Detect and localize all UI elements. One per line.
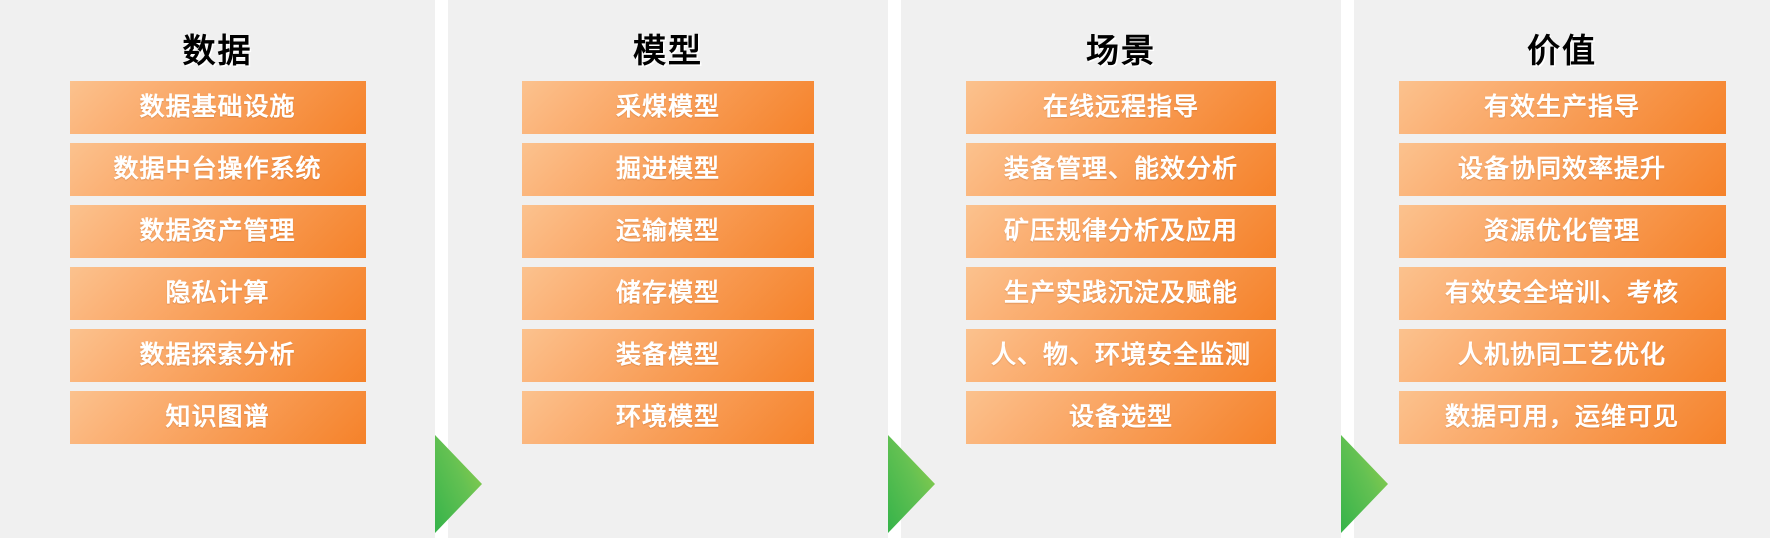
list-item[interactable]: 掘进模型: [522, 143, 814, 196]
column-items-value: 有效生产指导 设备协同效率提升 资源优化管理 有效安全培训、考核 人机协同工艺优…: [1354, 81, 1770, 444]
list-item[interactable]: 隐私计算: [70, 267, 366, 320]
list-item[interactable]: 运输模型: [522, 205, 814, 258]
list-item[interactable]: 有效生产指导: [1399, 81, 1726, 134]
arrow-right-icon: [888, 435, 935, 533]
list-item[interactable]: 人机协同工艺优化: [1399, 329, 1726, 382]
list-item[interactable]: 数据探索分析: [70, 329, 366, 382]
column-title-scene: 场景: [1086, 34, 1156, 67]
list-item[interactable]: 储存模型: [522, 267, 814, 320]
arrow-right-icon: [435, 435, 482, 533]
list-item[interactable]: 数据中台操作系统: [70, 143, 366, 196]
list-item[interactable]: 数据可用，运维可见: [1399, 391, 1726, 444]
arrow-right-icon: [1341, 435, 1388, 533]
column-title-model: 模型: [633, 34, 703, 67]
diagram-board: 数据 数据基础设施 数据中台操作系统 数据资产管理 隐私计算 数据探索分析 知识…: [0, 0, 1770, 538]
column-title-value: 价值: [1527, 34, 1597, 67]
column-items-scene: 在线远程指导 装备管理、能效分析 矿压规律分析及应用 生产实践沉淀及赋能 人、物…: [901, 81, 1341, 444]
list-item[interactable]: 环境模型: [522, 391, 814, 444]
column-panel-scene: 场景 在线远程指导 装备管理、能效分析 矿压规律分析及应用 生产实践沉淀及赋能 …: [901, 0, 1341, 538]
column-panel-value: 价值 有效生产指导 设备协同效率提升 资源优化管理 有效安全培训、考核 人机协同…: [1354, 0, 1770, 538]
list-item[interactable]: 设备选型: [966, 391, 1276, 444]
list-item[interactable]: 装备管理、能效分析: [966, 143, 1276, 196]
list-item[interactable]: 有效安全培训、考核: [1399, 267, 1726, 320]
list-item[interactable]: 在线远程指导: [966, 81, 1276, 134]
list-item[interactable]: 采煤模型: [522, 81, 814, 134]
column-panel-model: 模型 采煤模型 掘进模型 运输模型 储存模型 装备模型 环境模型: [448, 0, 888, 538]
list-item[interactable]: 设备协同效率提升: [1399, 143, 1726, 196]
list-item[interactable]: 装备模型: [522, 329, 814, 382]
list-item[interactable]: 矿压规律分析及应用: [966, 205, 1276, 258]
list-item[interactable]: 生产实践沉淀及赋能: [966, 267, 1276, 320]
list-item[interactable]: 数据资产管理: [70, 205, 366, 258]
list-item[interactable]: 人、物、环境安全监测: [966, 329, 1276, 382]
column-title-data: 数据: [183, 34, 253, 67]
column-panel-data: 数据 数据基础设施 数据中台操作系统 数据资产管理 隐私计算 数据探索分析 知识…: [0, 0, 435, 538]
list-item[interactable]: 知识图谱: [70, 391, 366, 444]
column-items-data: 数据基础设施 数据中台操作系统 数据资产管理 隐私计算 数据探索分析 知识图谱: [0, 81, 435, 444]
list-item[interactable]: 资源优化管理: [1399, 205, 1726, 258]
column-items-model: 采煤模型 掘进模型 运输模型 储存模型 装备模型 环境模型: [448, 81, 888, 444]
list-item[interactable]: 数据基础设施: [70, 81, 366, 134]
